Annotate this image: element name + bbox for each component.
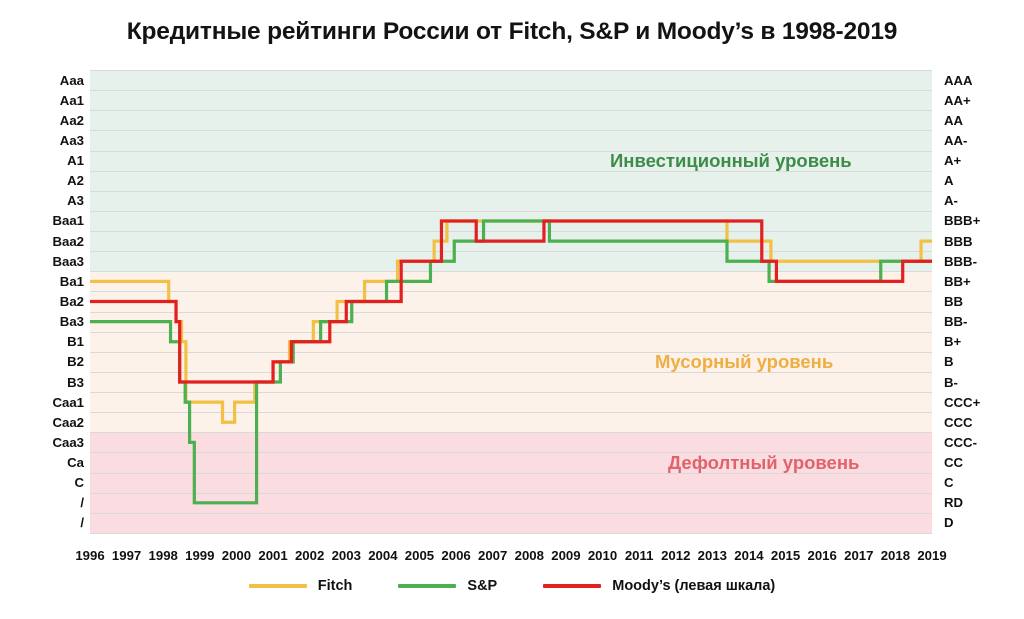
x-tick-year: 2006 xyxy=(441,548,470,563)
y-tick-right: AA xyxy=(944,114,963,127)
series-layer xyxy=(90,70,932,533)
y-tick-left: B1 xyxy=(6,335,84,348)
y-tick-left: Baa3 xyxy=(6,255,84,268)
y-tick-right: AAA xyxy=(944,74,973,87)
legend-swatch-icon xyxy=(249,584,307,588)
chart-title: Кредитные рейтинги России от Fitch, S&P … xyxy=(0,18,1024,46)
y-tick-right: C xyxy=(944,476,954,489)
y-tick-left: C xyxy=(6,476,84,489)
y-tick-left: Baa2 xyxy=(6,235,84,248)
y-tick-right: B xyxy=(944,355,954,368)
y-tick-left: Aa2 xyxy=(6,114,84,127)
y-tick-right: CCC xyxy=(944,416,973,429)
y-tick-left: B3 xyxy=(6,376,84,389)
series-line-moodys xyxy=(90,221,932,382)
x-tick-year: 2015 xyxy=(771,548,800,563)
y-tick-right: CC xyxy=(944,456,963,469)
y-tick-right: A xyxy=(944,174,954,187)
y-tick-right: AA- xyxy=(944,134,967,147)
legend-item[interactable]: Moody’s (левая шкала) xyxy=(543,578,775,594)
x-tick-year: 1996 xyxy=(75,548,104,563)
y-tick-left: Ba1 xyxy=(6,275,84,288)
y-tick-left: Aa1 xyxy=(6,94,84,107)
y-tick-right: CCC- xyxy=(944,436,977,449)
y-tick-left: Caa1 xyxy=(6,396,84,409)
y-tick-left: Baa1 xyxy=(6,214,84,227)
y-tick-right: A+ xyxy=(944,154,961,167)
legend-item[interactable]: Fitch xyxy=(249,578,353,594)
y-tick-right: RD xyxy=(944,496,963,509)
x-tick-year: 2010 xyxy=(588,548,617,563)
x-tick-year: 2002 xyxy=(295,548,324,563)
legend-label: Moody’s (левая шкала) xyxy=(612,578,775,594)
plot-area: Инвестиционный уровень Мусорный уровень … xyxy=(90,70,932,533)
x-tick-year: 2011 xyxy=(625,548,654,563)
legend-label: Fitch xyxy=(318,578,353,594)
x-tick-year: 2005 xyxy=(405,548,434,563)
x-tick-year: 2004 xyxy=(368,548,397,563)
y-tick-right: AA+ xyxy=(944,94,971,107)
x-tick-year: 2013 xyxy=(698,548,727,563)
gridline xyxy=(90,533,932,534)
x-tick-year: 2007 xyxy=(478,548,507,563)
left-axis-moodys: AaaAa1Aa2Aa3A1A2A3Baa1Baa2Baa3Ba1Ba2Ba3B… xyxy=(0,0,84,619)
x-tick-year: 2009 xyxy=(551,548,580,563)
right-axis-fitch-sp: AAAAA+AAAA-A+AA-BBB+BBBBBB-BB+BBBB-B+BB-… xyxy=(944,0,1024,619)
legend-item[interactable]: S&P xyxy=(398,578,497,594)
y-tick-left: Caa3 xyxy=(6,436,84,449)
y-tick-left: / xyxy=(6,496,84,509)
y-tick-right: BBB xyxy=(944,235,973,248)
y-tick-right: BB+ xyxy=(944,275,971,288)
x-tick-year: 1998 xyxy=(149,548,178,563)
y-tick-right: CCC+ xyxy=(944,396,980,409)
x-tick-year: 2000 xyxy=(222,548,251,563)
legend-swatch-icon xyxy=(398,584,456,588)
x-tick-year: 2017 xyxy=(844,548,873,563)
x-tick-year: 2008 xyxy=(515,548,544,563)
series-line-sp xyxy=(90,221,932,503)
legend-swatch-icon xyxy=(543,584,601,588)
chart-legend: FitchS&PMoody’s (левая шкала) xyxy=(0,578,1024,594)
x-tick-year: 2014 xyxy=(734,548,763,563)
y-tick-left: Ba3 xyxy=(6,315,84,328)
y-tick-left: / xyxy=(6,516,84,529)
y-tick-right: D xyxy=(944,516,954,529)
y-tick-left: B2 xyxy=(6,355,84,368)
y-tick-left: Aa3 xyxy=(6,134,84,147)
y-tick-right: B+ xyxy=(944,335,961,348)
y-tick-right: B- xyxy=(944,376,958,389)
y-tick-right: BB xyxy=(944,295,963,308)
y-tick-right: BBB- xyxy=(944,255,977,268)
y-tick-right: BBB+ xyxy=(944,214,980,227)
x-tick-year: 1997 xyxy=(112,548,141,563)
x-tick-year: 2003 xyxy=(332,548,361,563)
y-tick-left: A2 xyxy=(6,174,84,187)
legend-label: S&P xyxy=(467,578,497,594)
y-tick-left: Ba2 xyxy=(6,295,84,308)
y-tick-left: Ca xyxy=(6,456,84,469)
y-tick-left: Aaa xyxy=(6,74,84,87)
chart-page: Кредитные рейтинги России от Fitch, S&P … xyxy=(0,0,1024,619)
x-tick-year: 2016 xyxy=(808,548,837,563)
x-tick-year: 2012 xyxy=(661,548,690,563)
series-line-fitch xyxy=(90,221,932,422)
x-tick-year: 1999 xyxy=(185,548,214,563)
y-tick-right: A- xyxy=(944,194,958,207)
y-tick-left: Caa2 xyxy=(6,416,84,429)
x-tick-year: 2018 xyxy=(881,548,910,563)
y-tick-left: A1 xyxy=(6,154,84,167)
x-tick-year: 2001 xyxy=(258,548,287,563)
y-tick-left: A3 xyxy=(6,194,84,207)
y-tick-right: BB- xyxy=(944,315,967,328)
x-tick-year: 2019 xyxy=(917,548,946,563)
